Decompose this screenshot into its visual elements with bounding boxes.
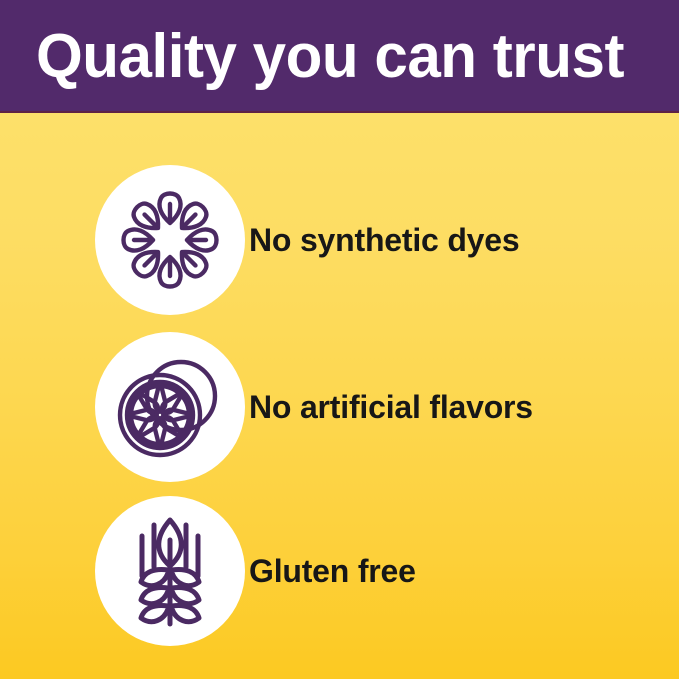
feature-label: No synthetic dyes xyxy=(249,165,519,315)
quality-claims-poster: Quality you can trust xyxy=(0,0,679,679)
icon-badge xyxy=(95,332,245,482)
icon-badge xyxy=(95,165,245,315)
feature-label: No artificial flavors xyxy=(249,332,533,482)
feature-label: Gluten free xyxy=(249,496,416,646)
feature-row: No synthetic dyes xyxy=(0,165,679,317)
dye-droplet-burst-icon xyxy=(108,178,232,302)
citrus-slice-icon xyxy=(111,348,229,466)
feature-row: Gluten free xyxy=(0,496,679,648)
feature-row: No artificial flavors xyxy=(0,332,679,484)
wheat-stalk-icon xyxy=(114,510,226,632)
icon-badge xyxy=(95,496,245,646)
header-band: Quality you can trust xyxy=(0,0,679,113)
page-title: Quality you can trust xyxy=(36,24,637,90)
